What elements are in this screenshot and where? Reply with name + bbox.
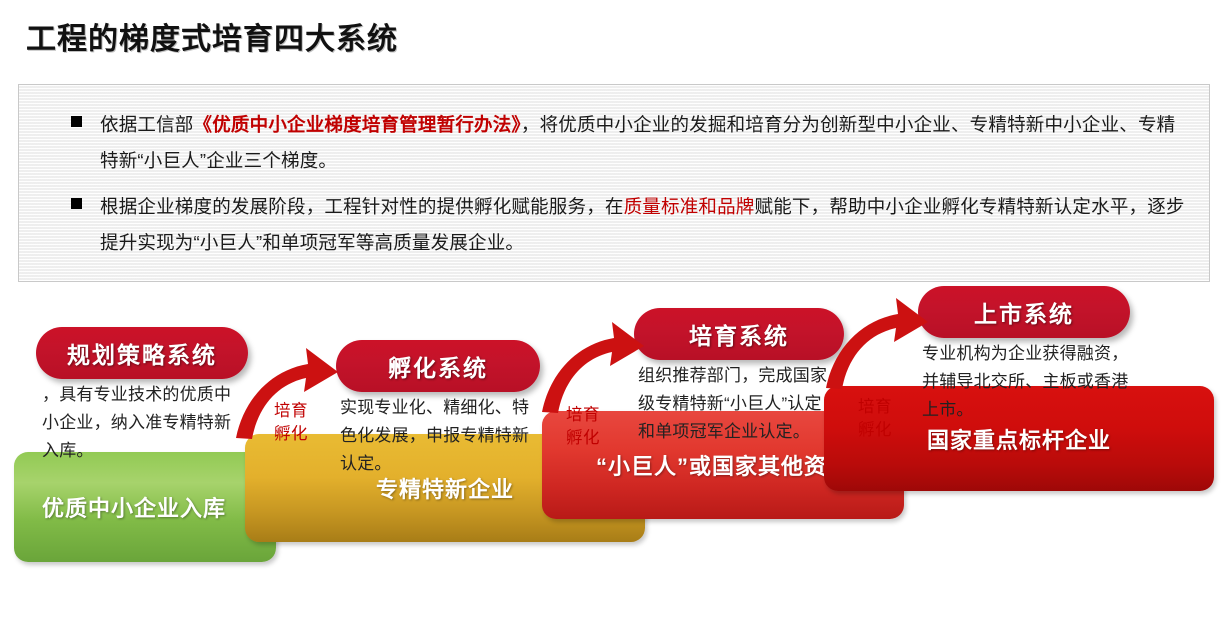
- arrow-label-2: 培育 孵化: [560, 404, 606, 450]
- square-bullet-icon: [71, 116, 82, 127]
- system-pill-planning[interactable]: 规划策略系统: [36, 327, 248, 379]
- arrow-label-2-line2: 孵化: [560, 427, 606, 450]
- system-pill-planning-label: 规划策略系统: [67, 336, 217, 370]
- arrow-label-2-line1: 培育: [560, 404, 606, 427]
- system-description-4: 专业机构为企业获得融资，并辅导北交所、主板或香港上市。: [922, 340, 1137, 424]
- system-pill-listing[interactable]: 上市系统: [918, 286, 1130, 338]
- bullet-text: 依据工信部《优质中小企业梯度培育管理暂行办法》，将优质中小企业的发掘和培育分为创…: [100, 107, 1193, 179]
- stair-bar-3-label: “小巨人”或国家其他资质: [596, 449, 850, 481]
- system-description-2: 实现专业化、精细化、特色化发展，申报专精特新认定。: [340, 394, 540, 478]
- bullet-segment-highlight: 质量标准和品牌: [624, 196, 755, 217]
- bullet-segment-highlight: 《优质中小企业梯度培育管理暂行办法》: [194, 114, 521, 135]
- staircase-diagram: 优质中小企业入库 专精特新企业 “小巨人”或国家其他资质 国家重点标杆企业 培育…: [0, 286, 1228, 622]
- bullet-item: 根据企业梯度的发展阶段，工程针对性的提供孵化赋能服务，在质量标准和品牌赋能下，帮…: [35, 189, 1193, 261]
- arrow-label-1: 培育 孵化: [268, 400, 314, 446]
- stair-bar-1-label: 优质中小企业入库: [42, 491, 226, 523]
- system-pill-incubation[interactable]: 孵化系统: [336, 340, 540, 392]
- system-description-1: ，具有专业技术的优质中小企业，纳入准专精特新入库。: [42, 381, 247, 465]
- system-pill-cultivation[interactable]: 培育系统: [634, 308, 844, 360]
- system-description-3: 组织推荐部门，完成国家级专精特新“小巨人”认定和单项冠军企业认定。: [638, 362, 838, 446]
- bullet-segment-plain: 依据工信部: [100, 114, 194, 135]
- system-pill-cultivation-label: 培育系统: [689, 317, 789, 351]
- system-pill-listing-label: 上市系统: [974, 295, 1074, 329]
- bullet-text: 根据企业梯度的发展阶段，工程针对性的提供孵化赋能服务，在质量标准和品牌赋能下，帮…: [100, 189, 1193, 261]
- intro-text-panel: 依据工信部《优质中小企业梯度培育管理暂行办法》，将优质中小企业的发掘和培育分为创…: [18, 84, 1210, 282]
- arrow-label-3-line2: 孵化: [852, 419, 898, 442]
- square-bullet-icon: [71, 198, 82, 209]
- arrow-label-3-line1: 培育: [852, 396, 898, 419]
- bullet-item: 依据工信部《优质中小企业梯度培育管理暂行办法》，将优质中小企业的发掘和培育分为创…: [35, 107, 1193, 179]
- bullet-segment-plain: 根据企业梯度的发展阶段，工程针对性的提供孵化赋能服务，在: [100, 196, 624, 217]
- curved-arrow-icon-3: [820, 292, 930, 397]
- stair-bar-4-label: 国家重点标杆企业: [927, 423, 1111, 455]
- arrow-label-1-line2: 孵化: [268, 423, 314, 446]
- arrow-label-1-line1: 培育: [268, 400, 314, 423]
- stair-bar-1[interactable]: 优质中小企业入库: [14, 452, 276, 562]
- arrow-label-3: 培育 孵化: [852, 396, 898, 442]
- page-title: 工程的梯度式培育四大系统: [26, 14, 398, 58]
- system-pill-incubation-label: 孵化系统: [388, 349, 488, 383]
